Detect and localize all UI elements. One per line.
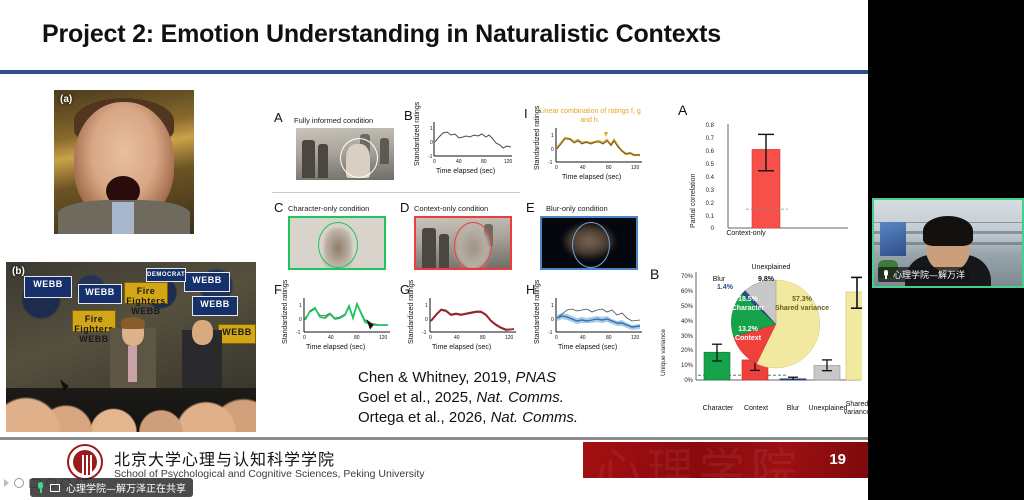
svg-text:40: 40 xyxy=(454,335,460,340)
svg-text:0: 0 xyxy=(555,165,558,170)
x-axis-label: Time elapsed (sec) xyxy=(432,344,491,351)
second-man-head xyxy=(192,320,213,345)
stimulus-blur-only xyxy=(540,216,638,270)
timeseries-plot-I: 1 0 -1 0 40 80 120 xyxy=(548,126,644,170)
panel-letter: B xyxy=(404,108,413,123)
rally-sign: DEMOCRAT xyxy=(146,268,186,282)
speaker-head xyxy=(122,320,144,346)
svg-text:80: 80 xyxy=(480,335,486,340)
rally-sign: WEBB xyxy=(24,276,72,298)
screen-share-icon xyxy=(50,484,60,492)
title-divider xyxy=(0,70,868,74)
svg-text:0.6: 0.6 xyxy=(706,149,715,155)
pie-slice-label-context: Context xyxy=(724,335,772,344)
citation-authors: Ortega et al., 2026, xyxy=(358,409,491,426)
citation-authors: Chen & Whitney, 2019, xyxy=(358,369,515,386)
svg-text:120: 120 xyxy=(631,165,640,170)
svg-text:1: 1 xyxy=(551,133,554,139)
svg-text:-1: -1 xyxy=(548,160,553,166)
panel-letter: C xyxy=(274,200,283,215)
rally-sign: WEBB xyxy=(218,324,256,344)
svg-text:1: 1 xyxy=(299,303,302,309)
citation-item: Ortega et al., 2026, Nat. Comms. xyxy=(358,408,578,428)
svg-text:0%: 0% xyxy=(684,378,693,384)
svg-text:-1: -1 xyxy=(548,330,553,336)
panel-letter: D xyxy=(400,200,409,215)
svg-text:10%: 10% xyxy=(681,363,694,369)
timeseries-plot-B: 1 0 -1 0 40 80 120 xyxy=(428,120,514,164)
svg-text:80: 80 xyxy=(481,159,487,164)
pointer-icon[interactable] xyxy=(4,479,9,487)
panel-title: Context-only condition xyxy=(414,204,488,213)
citation-authors: Goel et al., 2025, xyxy=(358,389,476,406)
citation-venue: PNAS xyxy=(515,369,556,386)
panel-F: F Standardized ratings 1 0 -1 0 40 80 12… xyxy=(272,282,396,360)
svg-text:80: 80 xyxy=(606,165,612,170)
svg-text:-1: -1 xyxy=(296,330,301,336)
page-title: Project 2: Emotion Understanding in Natu… xyxy=(42,20,721,49)
svg-text:40: 40 xyxy=(580,335,586,340)
record-icon[interactable] xyxy=(14,478,24,488)
hanging-cloth xyxy=(880,222,906,256)
panel-annotation: Linear combination of ratings f, g and h… xyxy=(536,108,644,125)
stimulus-context-only xyxy=(414,216,512,270)
svg-text:0: 0 xyxy=(551,317,554,323)
svg-text:0.4: 0.4 xyxy=(706,175,715,181)
presentation-slide: Project 2: Emotion Understanding in Natu… xyxy=(0,0,868,500)
stimulus-fully-informed xyxy=(296,128,394,180)
pie-slice-label-character: Character xyxy=(724,305,772,314)
citation-item: Goel et al., 2025, Nat. Comms. xyxy=(358,388,578,408)
meeting-screen-share-view: Project 2: Emotion Understanding in Natu… xyxy=(0,0,1024,500)
svg-text:40: 40 xyxy=(580,165,586,170)
svg-text:0: 0 xyxy=(555,335,558,340)
svg-text:80: 80 xyxy=(354,335,360,340)
rally-sign: Fire Fighters WEBB xyxy=(124,282,168,304)
svg-text:30%: 30% xyxy=(681,334,694,340)
svg-text:0: 0 xyxy=(551,147,554,153)
paper-figure-panels: A Fully informed condition B Standardize… xyxy=(272,104,650,360)
x-category-label: Shared variance xyxy=(837,401,868,417)
pie-slice-value-shared: 57.3% xyxy=(772,296,832,305)
panel-C: C Character-only condition xyxy=(272,198,396,278)
panel-letter: I xyxy=(524,106,528,121)
participant-video-tile[interactable]: 心理学院—解万洋 xyxy=(872,198,1024,288)
participant-name-tag: 心理学院—解万洋 xyxy=(878,267,970,282)
panel-G: G Standardized ratings 1 0 -1 0 40 80 12… xyxy=(398,282,522,360)
svg-text:-1: -1 xyxy=(422,330,427,336)
pie-inset-variance: Unexplained 57.3% Shared variance 18. xyxy=(706,264,852,376)
svg-text:40: 40 xyxy=(456,159,462,164)
stimulus-character-only xyxy=(288,216,386,270)
x-axis-label: Time elapsed (sec) xyxy=(562,174,621,181)
raised-hands xyxy=(6,388,256,432)
svg-text:0.1: 0.1 xyxy=(706,214,715,220)
svg-text:1: 1 xyxy=(425,303,428,309)
pie-slice-value-blur: 1.4% xyxy=(710,284,740,293)
x-axis-label: Time elapsed (sec) xyxy=(306,344,365,351)
svg-text:0: 0 xyxy=(433,159,436,164)
svg-text:40: 40 xyxy=(328,335,334,340)
svg-text:60%: 60% xyxy=(681,289,694,295)
photo-label-a: (a) xyxy=(60,94,72,105)
svg-text:80: 80 xyxy=(606,335,612,340)
x-category-label: Context xyxy=(734,405,778,413)
svg-text:0: 0 xyxy=(425,317,428,323)
svg-text:1: 1 xyxy=(551,303,554,309)
participant-hair xyxy=(923,216,973,246)
x-axis-label: Time elapsed (sec) xyxy=(436,168,495,175)
footer-divider xyxy=(0,437,868,440)
panel-D: D Context-only condition xyxy=(398,198,522,278)
rally-sign: WEBB xyxy=(192,296,238,316)
panel-H: H Standardized ratings 1 0 -1 0 40 80 12… xyxy=(524,282,650,360)
pie-title: Unexplained xyxy=(726,264,816,273)
citation-venue: Nat. Comms. xyxy=(476,389,564,406)
panel-title: Blur-only condition xyxy=(546,204,608,213)
svg-text:120: 120 xyxy=(379,335,388,340)
x-axis-label: Time elapsed (sec) xyxy=(558,344,617,351)
speaker-tie xyxy=(128,346,137,382)
svg-text:0: 0 xyxy=(299,317,302,323)
panel-B: B Standardized ratings 1 0 -1 0 40 80 12… xyxy=(402,104,520,184)
svg-text:0.3: 0.3 xyxy=(706,188,715,194)
citation-list: Chen & Whitney, 2019, PNAS Goel et al., … xyxy=(358,368,578,428)
sharing-status-bar: 心理学院—解万泽正在共享 xyxy=(30,478,193,497)
svg-text:1: 1 xyxy=(430,126,433,132)
svg-text:0.2: 0.2 xyxy=(706,201,715,207)
pie-slice-label-shared: Shared variance xyxy=(772,305,832,314)
figure-divider xyxy=(272,192,520,193)
y-axis-label: Standardized ratings xyxy=(408,296,416,344)
org-name-cn: 北京大学心理与认知科学学院 xyxy=(114,446,335,470)
timeseries-plot-F: 1 0 -1 0 40 80 120 xyxy=(296,296,392,340)
svg-text:70%: 70% xyxy=(681,274,694,280)
photo-label-b: (b) xyxy=(12,266,25,277)
participant-name-label: 心理学院—解万洋 xyxy=(893,268,965,281)
timeseries-plot-G: 1 0 -1 0 40 80 120 xyxy=(422,296,518,340)
pie-slice-value-character: 18.5% xyxy=(724,296,772,305)
svg-text:0: 0 xyxy=(430,140,433,146)
y-axis-label: Standardized ratings xyxy=(534,296,542,344)
svg-text:120: 120 xyxy=(631,335,640,340)
panel-letter: A xyxy=(274,110,283,125)
svg-text:120: 120 xyxy=(504,159,513,164)
panel-A: A Fully informed condition xyxy=(272,104,400,184)
x-category-label: Context-only xyxy=(711,230,781,238)
decorative-watermark: 心理学院 xyxy=(595,442,803,478)
y-axis-label: Standardized ratings xyxy=(534,122,542,170)
pie-slice-value-unexplained: 9.8% xyxy=(748,276,784,285)
panel-I: I Linear combination of ratings f, g and… xyxy=(522,104,650,184)
panel-letter: E xyxy=(526,200,535,215)
panel-E: E Blur-only condition xyxy=(524,198,648,278)
panel-letter: A xyxy=(678,102,687,118)
chart-partial-correlation: A Partial correlation 0.8 0.7 0.6 0.5 0.… xyxy=(672,100,858,260)
svg-text:0: 0 xyxy=(429,335,432,340)
pie-slice-value-context: 13.2% xyxy=(724,326,772,335)
tie-shape xyxy=(112,202,134,234)
microphone-icon xyxy=(883,270,889,279)
y-axis-label: Standardized ratings xyxy=(282,296,290,344)
svg-text:0: 0 xyxy=(303,335,306,340)
svg-text:0.7: 0.7 xyxy=(706,136,715,142)
svg-text:40%: 40% xyxy=(681,319,694,325)
microphone-icon xyxy=(37,482,44,493)
svg-text:50%: 50% xyxy=(681,304,694,310)
svg-text:20%: 20% xyxy=(681,348,694,354)
slide-number: 19 xyxy=(829,451,846,468)
citation-venue: Nat. Comms. xyxy=(491,409,579,426)
svg-text:-1: -1 xyxy=(428,154,433,160)
photo-campaign-rally: WEBB WEBB Fire Fighters WEBB Fire Fighte… xyxy=(6,262,256,432)
sharing-status-label: 心理学院—解万泽正在共享 xyxy=(66,480,186,495)
slide-number-band: 心理学院 19 xyxy=(583,442,868,478)
panel-letter: B xyxy=(650,266,659,282)
citation-item: Chen & Whitney, 2019, PNAS xyxy=(358,368,578,388)
rally-sign: WEBB xyxy=(184,272,230,292)
svg-text:0.8: 0.8 xyxy=(706,123,715,129)
panel-letter: F xyxy=(274,282,282,297)
y-axis-label: Standardized ratings xyxy=(414,118,422,166)
rally-sign: WEBB xyxy=(78,284,122,304)
panel-title: Character-only condition xyxy=(288,204,369,213)
svg-text:120: 120 xyxy=(505,335,514,340)
timeseries-plot-H: 1 0 -1 0 40 80 120 xyxy=(548,296,644,340)
photo-shouting-man: (a) xyxy=(54,90,194,234)
svg-text:0.5: 0.5 xyxy=(706,162,715,168)
panel-title: Fully informed condition xyxy=(294,116,373,125)
chart-unique-variance: B Unique variance 70% 60% 50% 40% 30% 20… xyxy=(648,258,862,426)
